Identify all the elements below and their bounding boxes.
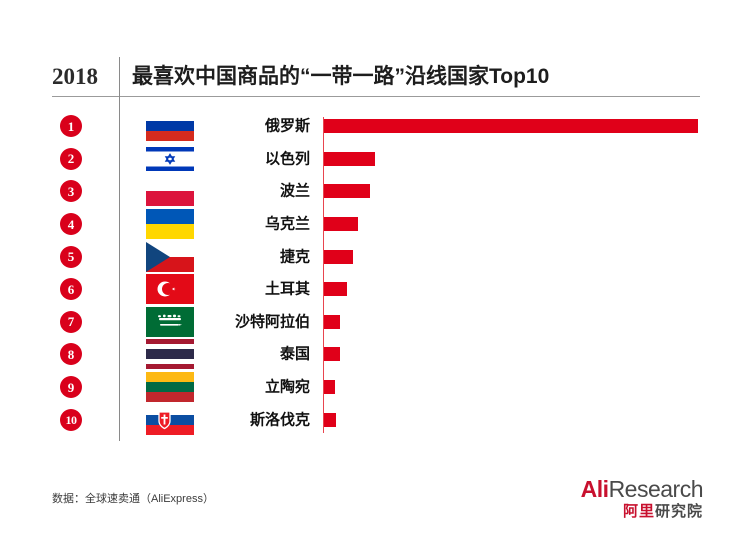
ranking-row: 10斯洛伐克 [0,403,729,436]
bar-track [324,413,709,427]
country-label: 泰国 [198,347,310,362]
ranking-row: 3波兰 [0,175,729,208]
bar-track [324,250,709,264]
flag-czech [146,242,194,272]
flag-russia [146,111,194,141]
logo-latin: AliResearch [581,478,703,501]
country-label: 以色列 [198,151,310,166]
country-label: 立陶宛 [198,380,310,395]
flag-israel [146,144,194,174]
bar [324,413,336,427]
bar-track [324,282,709,296]
bar [324,347,340,361]
ranking-row: 5捷克 [0,240,729,273]
ranking-row: 4乌克兰 [0,208,729,241]
logo-ali-text: Ali [581,476,609,502]
rank-badge: 6 [60,278,82,300]
rank-badge: 2 [60,148,82,170]
logo-cn-red-text: 阿里 [623,503,655,520]
rank-badge: 4 [60,213,82,235]
flag-thailand [146,339,194,369]
logo-research-text: Research [609,476,703,502]
bar-track [324,184,709,198]
country-label: 斯洛伐克 [198,412,310,427]
flag-ukraine [146,209,194,239]
bar-track [324,347,709,361]
ranking-row: 9立陶宛 [0,371,729,404]
logo-chinese: 阿里研究院 [581,504,703,519]
bar [324,282,347,296]
country-label: 波兰 [198,184,310,199]
header-year: 2018 [52,65,115,88]
source-note: 数据：全球速卖通（AliExpress） [52,494,214,505]
header: 2018 最喜欢中国商品的“一带一路”沿线国家Top10 [52,54,700,98]
bar-track [324,119,709,133]
rank-badge: 5 [60,246,82,268]
ranking-row: 7沙特阿拉伯 [0,306,729,339]
rank-badge: 7 [60,311,82,333]
flag-turkey [146,274,194,304]
flag-saudi-arabia [146,307,194,337]
logo-cn-gray-text: 研究院 [655,503,703,520]
bar-track [324,217,709,231]
infographic-root: 2018 最喜欢中国商品的“一带一路”沿线国家Top10 1俄罗斯2以色列3波兰… [0,0,729,547]
rank-badge: 9 [60,376,82,398]
bar [324,152,375,166]
bar [324,380,335,394]
flag-lithuania [146,372,194,402]
ranking-row: 6土耳其 [0,273,729,306]
ranking-row: 2以色列 [0,143,729,176]
bar [324,315,340,329]
country-label: 捷克 [198,249,310,264]
country-label: 乌克兰 [198,217,310,232]
ranking-list: 1俄罗斯2以色列3波兰4乌克兰5捷克6土耳其7沙特阿拉伯8泰国9立陶宛10斯洛伐… [0,110,729,436]
bar-track [324,315,709,329]
bar [324,217,358,231]
page-title: 最喜欢中国商品的“一带一路”沿线国家Top10 [115,66,549,87]
rank-badge: 10 [60,409,82,431]
bar-track [324,152,709,166]
rank-badge: 8 [60,343,82,365]
rank-badge: 1 [60,115,82,137]
flag-poland [146,176,194,206]
bar [324,119,698,133]
bar-track [324,380,709,394]
header-rule [52,96,700,97]
bar [324,250,353,264]
ranking-row: 8泰国 [0,338,729,371]
rank-badge: 3 [60,180,82,202]
country-label: 俄罗斯 [198,119,310,134]
country-label: 土耳其 [198,282,310,297]
aliresearch-logo: AliResearch 阿里研究院 [581,478,703,519]
ranking-row: 1俄罗斯 [0,110,729,143]
country-label: 沙特阿拉伯 [198,314,310,329]
bar [324,184,370,198]
flag-slovakia [146,405,194,435]
